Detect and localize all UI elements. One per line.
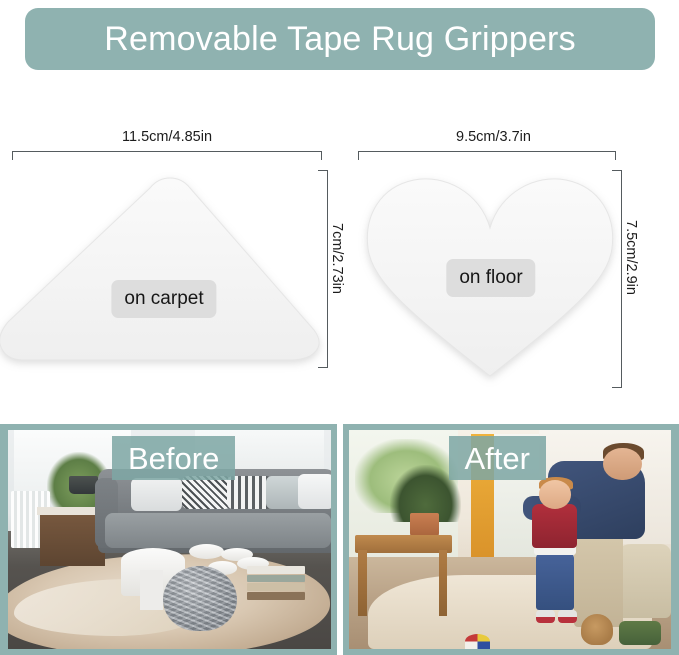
before-caption: Before (112, 436, 235, 480)
page-title-banner: Removable Tape Rug Grippers (25, 8, 655, 70)
triangle-pad: on carpet (0, 168, 332, 368)
after-toy (619, 621, 661, 645)
triangle-width-label: 11.5cm/4.85in (122, 130, 212, 145)
after-adult-legs (574, 526, 622, 627)
after-side-table (355, 535, 452, 553)
page-title: Removable Tape Rug Grippers (104, 22, 576, 56)
after-caption: After (449, 436, 546, 480)
before-photo-panel: Before (0, 424, 337, 655)
product-triangle-gripper: 11.5cm/4.85in 7cm/2.73in on carpet (0, 78, 340, 418)
before-after-comparison: Before (0, 424, 679, 655)
after-adult-head (603, 448, 642, 481)
triangle-pad-label: on carpet (111, 280, 216, 318)
heart-pad-label: on floor (446, 259, 535, 297)
heart-pad: on floor (360, 170, 620, 390)
heart-width-bracket (358, 151, 616, 160)
before-knitted-pouf (163, 566, 237, 632)
triangle-width-bracket (12, 151, 322, 160)
after-ball (465, 634, 491, 649)
heart-height-label: 7.5cm/2.9in (624, 220, 639, 295)
before-book-stack (247, 566, 305, 605)
after-toddler-head (539, 480, 571, 508)
after-toddler-cardigan (532, 504, 577, 548)
after-photo-panel: After (343, 424, 679, 655)
heart-width-label: 9.5cm/3.7in (456, 130, 531, 145)
product-spec-area: 11.5cm/4.85in 7cm/2.73in on carpet (0, 78, 679, 418)
product-heart-gripper: 9.5cm/3.7in 7.5cm/2.9in on floor (340, 78, 679, 418)
after-teddy-bear (581, 614, 613, 645)
triangle-pad-shape (0, 168, 332, 368)
